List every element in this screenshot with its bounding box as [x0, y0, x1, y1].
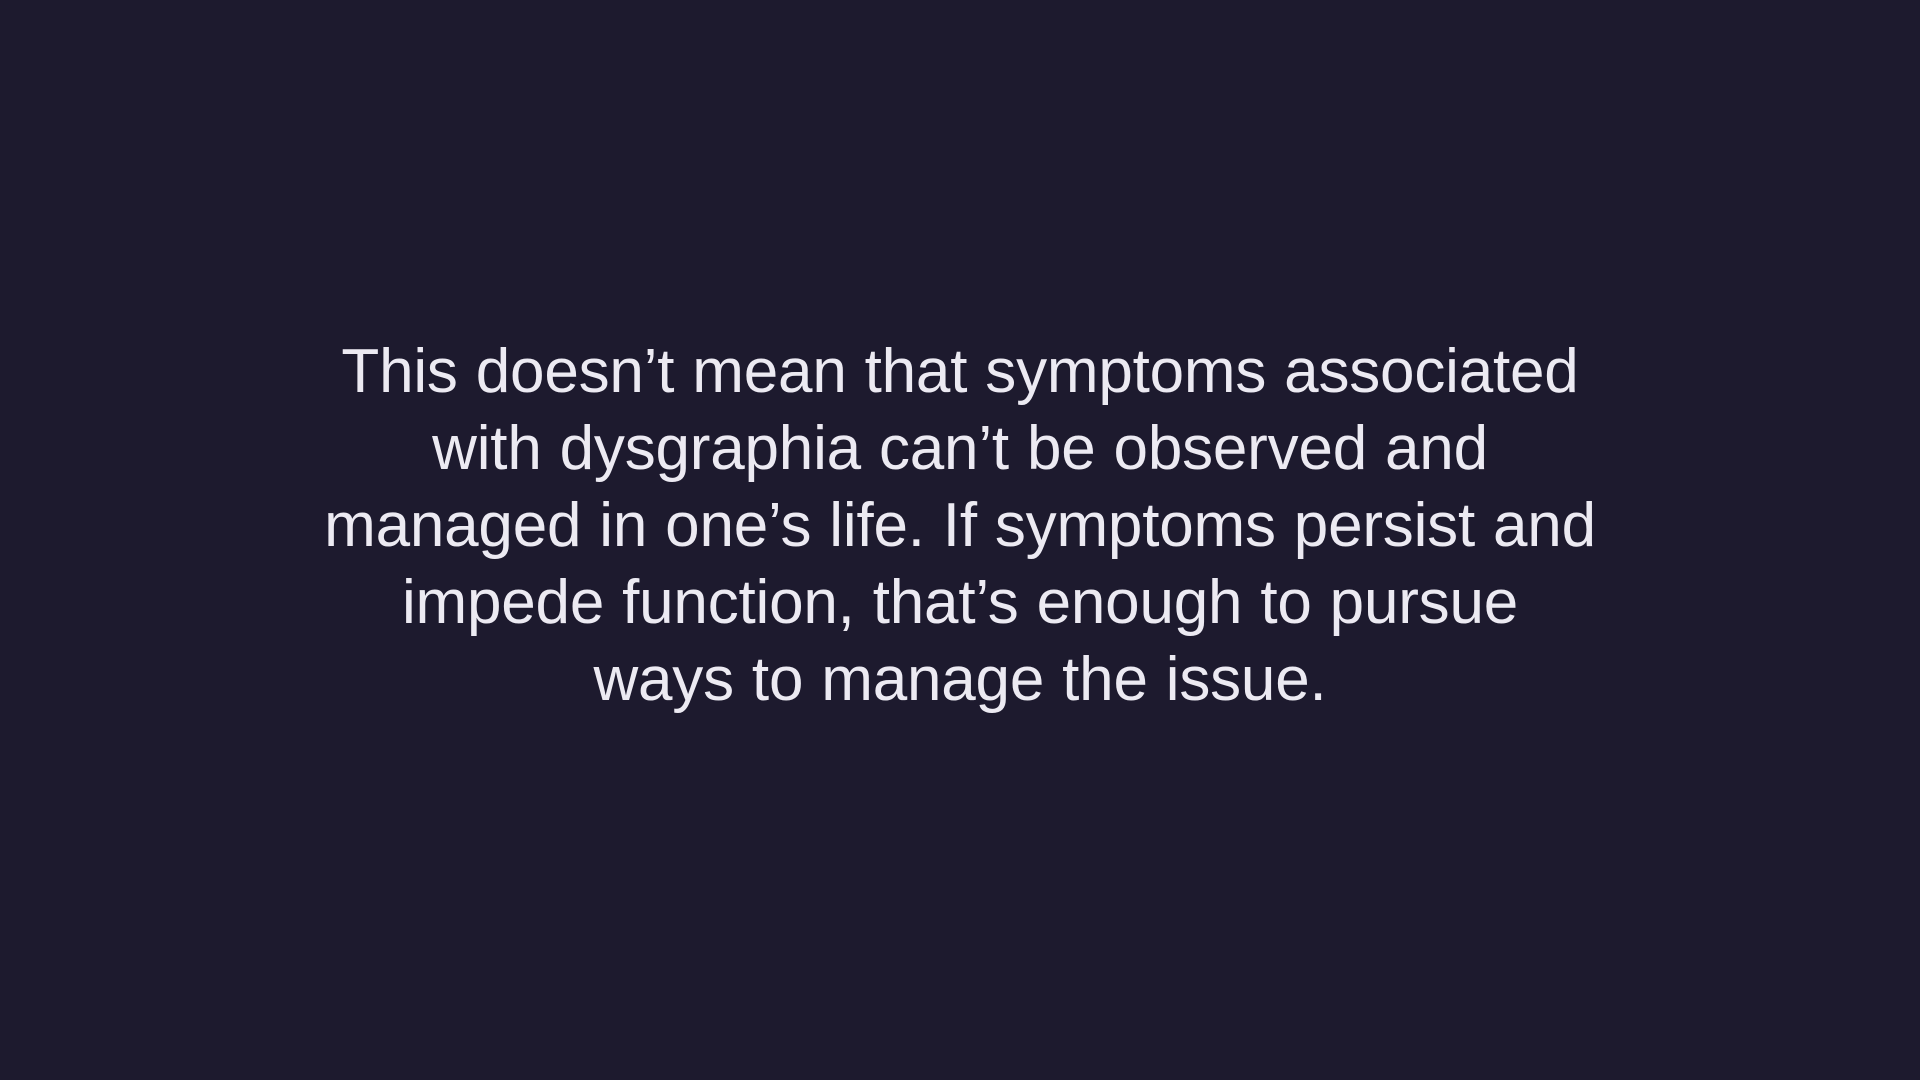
quote-line-3: managed in one’s life. If symptoms persi… [290, 487, 1630, 564]
quote-line-4: impede function, that’s enough to pursue [290, 564, 1630, 641]
quote-block: This doesn’t mean that symptoms associat… [250, 333, 1670, 718]
quote-line-2: with dysgraphia can’t be observed and [290, 410, 1630, 487]
quote-line-1: This doesn’t mean that symptoms associat… [290, 333, 1630, 410]
quote-slide: This doesn’t mean that symptoms associat… [0, 0, 1920, 1080]
quote-line-5: ways to manage the issue. [290, 641, 1630, 718]
quote-text: This doesn’t mean that symptoms associat… [290, 333, 1630, 718]
